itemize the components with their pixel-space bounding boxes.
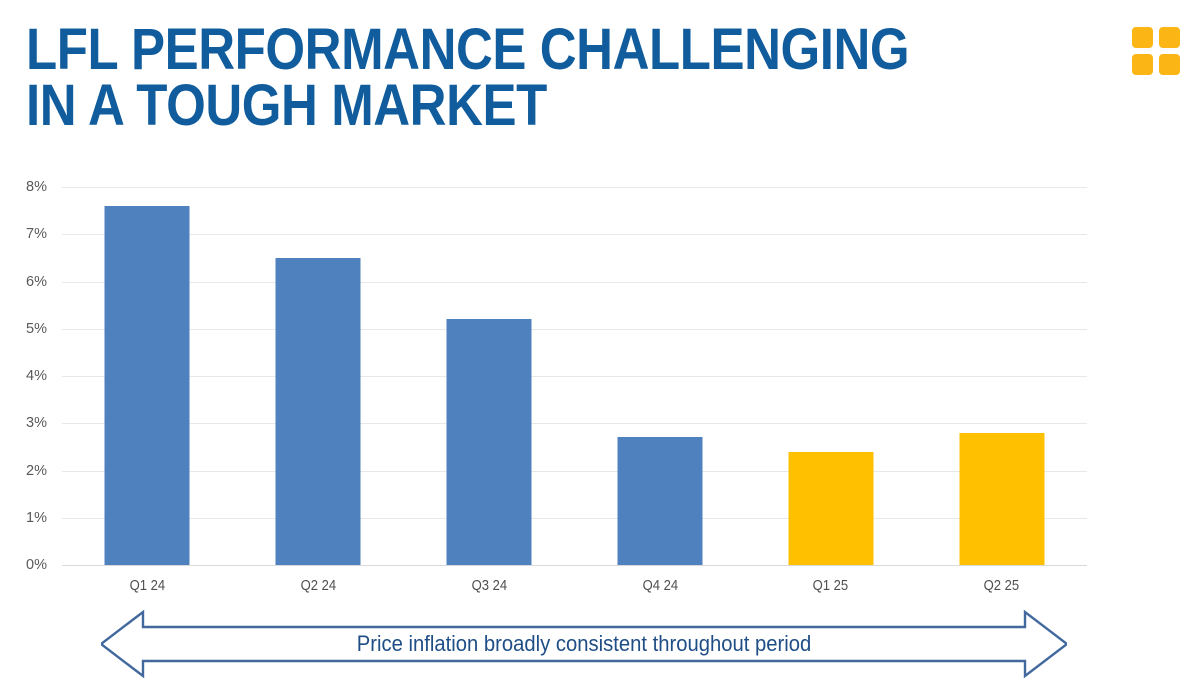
logo-tile-1 (1132, 27, 1153, 48)
bar-q4-24[interactable] (617, 437, 702, 565)
bar-slot (916, 187, 1087, 565)
y-axis-tick-label: 1% (26, 510, 47, 526)
bar-slot (233, 187, 404, 565)
slide-header: LFL PERFORMANCE CHALLENGING IN A TOUGH M… (0, 0, 1200, 160)
bar-slot (62, 187, 233, 565)
four-square-logo-icon (1132, 27, 1180, 75)
bar-chart: 0%1%2%3%4%5%6%7%8% Q1 24Q2 24Q3 24Q4 24Q… (0, 170, 1200, 590)
x-axis-tick-label: Q2 24 (241, 578, 395, 594)
y-axis-tick-label: 3% (26, 415, 47, 431)
bar-slot (404, 187, 575, 565)
x-axis-tick-label: Q1 25 (754, 578, 908, 594)
y-axis-tick-label: 5% (26, 321, 47, 337)
annotation-label: Price inflation broadly consistent throu… (140, 609, 1029, 679)
y-axis-labels: 0%1%2%3%4%5%6%7%8% (0, 187, 55, 565)
bar-q2-25[interactable] (959, 433, 1044, 565)
bar-slot (575, 187, 746, 565)
y-axis-tick-label: 2% (26, 463, 47, 479)
y-axis-tick-label: 0% (26, 557, 47, 573)
x-axis-tick-label: Q1 24 (71, 578, 225, 594)
page-title: LFL PERFORMANCE CHALLENGING IN A TOUGH M… (26, 22, 932, 135)
y-axis-tick-label: 4% (26, 368, 47, 384)
bar-q1-25[interactable] (788, 452, 873, 565)
x-axis-labels: Q1 24Q2 24Q3 24Q4 24Q1 25Q2 25 (62, 570, 1087, 602)
bar-q1-24[interactable] (105, 206, 190, 565)
bar-series (62, 187, 1087, 565)
y-axis-tick-label: 7% (26, 226, 47, 242)
logo-tile-3 (1132, 54, 1153, 75)
x-axis-tick-label: Q3 24 (412, 578, 566, 594)
gridline (62, 565, 1087, 566)
x-axis-tick-label: Q2 25 (925, 578, 1079, 594)
y-axis-tick-label: 8% (26, 179, 47, 195)
x-axis-tick-label: Q4 24 (583, 578, 737, 594)
annotation-arrow: Price inflation broadly consistent throu… (101, 609, 1067, 679)
bar-slot (745, 187, 916, 565)
y-axis-tick-label: 6% (26, 274, 47, 290)
bar-q3-24[interactable] (447, 319, 532, 565)
bar-q2-24[interactable] (276, 258, 361, 565)
logo-tile-2 (1159, 27, 1180, 48)
plot-area (62, 187, 1087, 565)
logo-tile-4 (1159, 54, 1180, 75)
